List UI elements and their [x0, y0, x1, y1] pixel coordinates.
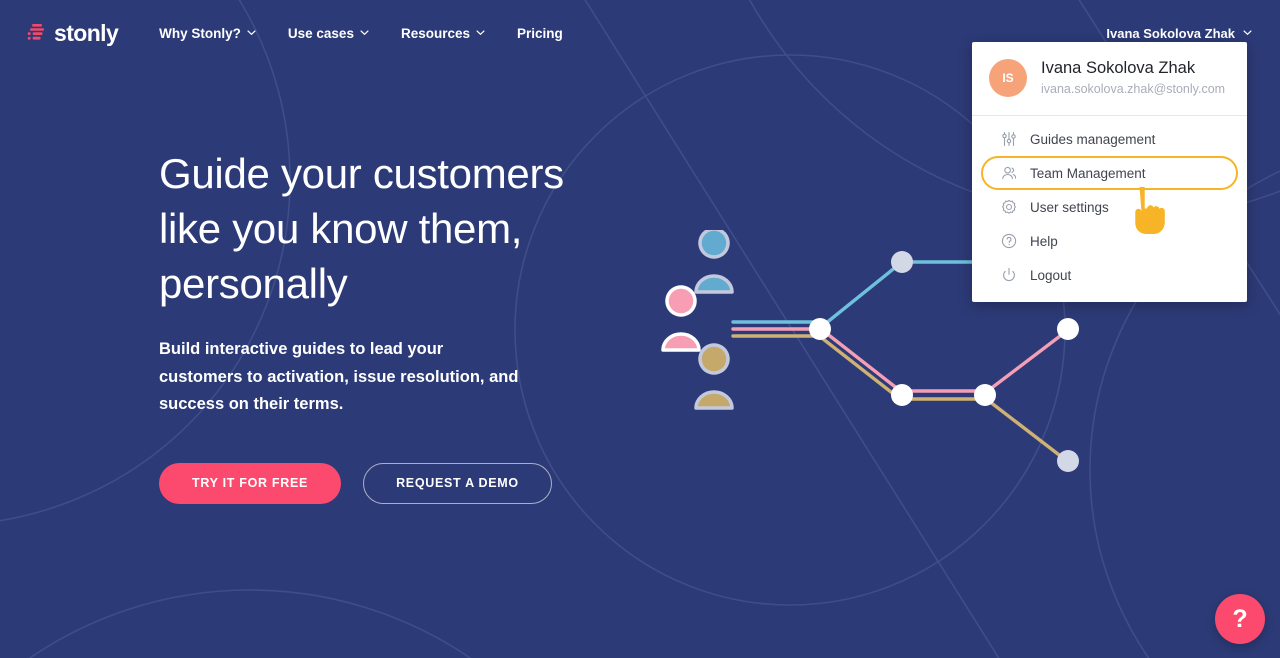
graph-node-mid-left	[891, 384, 913, 406]
avatar: IS	[989, 59, 1027, 97]
hero-heading-line-3: personally	[159, 260, 347, 307]
dropdown-user-email: ivana.sokolova.zhak@stonly.com	[1041, 80, 1225, 98]
menu-item-label: Help	[1030, 234, 1058, 249]
menu-item-logout[interactable]: Logout	[981, 258, 1238, 292]
path-gold-down	[818, 335, 900, 399]
nav-item-resources[interactable]: Resources	[401, 20, 485, 47]
path-pink-down	[821, 329, 903, 393]
hero-subtext: Build interactive guides to lead your cu…	[159, 336, 524, 419]
menu-item-label: Guides management	[1030, 132, 1155, 147]
nav-item-why-stonly[interactable]: Why Stonly?	[159, 20, 256, 47]
menu-item-help[interactable]: Help	[981, 224, 1238, 258]
menu-item-label: User settings	[1030, 200, 1109, 215]
request-a-demo-button[interactable]: REQUEST A DEMO	[363, 463, 552, 504]
nav-item-label: Why Stonly?	[159, 26, 241, 41]
dropdown-user-header: IS Ivana Sokolova Zhak ivana.sokolova.zh…	[972, 42, 1247, 116]
nav-item-pricing[interactable]: Pricing	[517, 20, 563, 47]
menu-item-guides-management[interactable]: Guides management	[981, 122, 1238, 156]
nav-links: Why Stonly? Use cases Resources Pricing	[159, 20, 563, 47]
path-blue-up	[820, 262, 902, 328]
menu-item-label: Logout	[1030, 268, 1071, 283]
sliders-icon	[1001, 131, 1017, 147]
chevron-down-icon	[1243, 28, 1252, 37]
avatar-person-pink	[663, 287, 699, 350]
pointing-hand-cursor-icon	[1124, 186, 1168, 238]
people-icon	[1001, 165, 1017, 181]
chevron-down-icon	[247, 28, 256, 37]
nav-item-label: Use cases	[288, 26, 354, 41]
user-dropdown-menu: IS Ivana Sokolova Zhak ivana.sokolova.zh…	[972, 42, 1247, 302]
nav-item-label: Resources	[401, 26, 470, 41]
menu-item-user-settings[interactable]: User settings	[981, 190, 1238, 224]
chevron-down-icon	[360, 28, 369, 37]
graph-node-hub	[809, 318, 831, 340]
nav-item-use-cases[interactable]: Use cases	[288, 20, 369, 47]
stonly-logo-icon	[27, 22, 47, 44]
cta-row: TRY IT FOR FREE REQUEST A DEMO	[159, 463, 629, 504]
graph-node-mid-right	[974, 384, 996, 406]
gear-icon	[1001, 199, 1017, 215]
logo[interactable]: stonly	[27, 0, 118, 66]
graph-node-top	[891, 251, 913, 273]
dropdown-item-list: Guides management Team Management	[972, 116, 1247, 302]
graph-node-upper-right	[1057, 318, 1079, 340]
path-pink-out	[985, 330, 1068, 393]
user-menu-label: Ivana Sokolova Zhak	[1106, 26, 1235, 41]
page-title: Guide your customers like you know them,…	[159, 146, 629, 311]
hero-section: Guide your customers like you know them,…	[159, 146, 629, 504]
power-icon	[1001, 267, 1017, 283]
hero-heading-line-2: like you know them,	[159, 205, 522, 252]
try-it-for-free-button[interactable]: TRY IT FOR FREE	[159, 463, 341, 504]
avatar-person-gold	[696, 345, 732, 408]
dropdown-user-name: Ivana Sokolova Zhak	[1041, 58, 1225, 78]
page-root: stonly Why Stonly? Use cases Resources	[0, 0, 1280, 658]
nav-item-label: Pricing	[517, 26, 563, 41]
menu-item-label: Team Management	[1030, 166, 1146, 181]
help-button[interactable]: ?	[1215, 594, 1265, 644]
graph-node-lower-right	[1057, 450, 1079, 472]
logo-text: stonly	[54, 20, 118, 47]
path-gold-out	[985, 398, 1067, 461]
hero-heading-line-1: Guide your customers	[159, 150, 564, 197]
chevron-down-icon	[476, 28, 485, 37]
question-circle-icon	[1001, 233, 1017, 249]
avatar-person-blue	[696, 230, 732, 292]
menu-item-team-management[interactable]: Team Management	[981, 156, 1238, 190]
